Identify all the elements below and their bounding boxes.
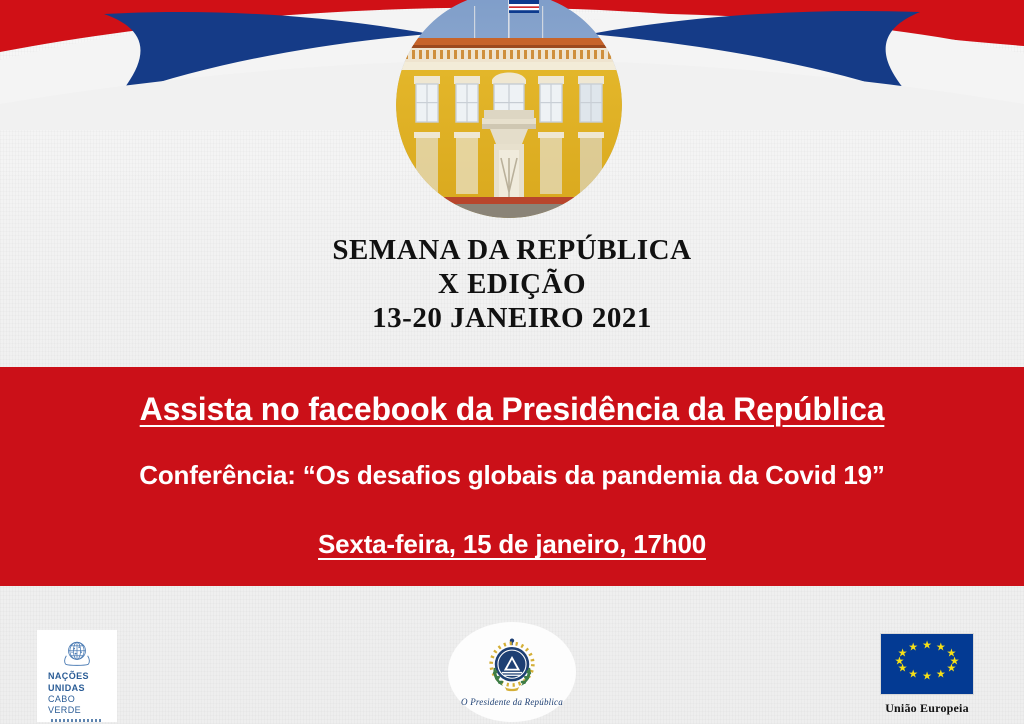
headline-line-3: 13-20 JANEIRO 2021 xyxy=(0,302,1024,336)
headline-block: SEMANA DA REPÚBLICA X EDIÇÃO 13-20 JANEI… xyxy=(0,234,1024,336)
un-emblem-icon xyxy=(57,638,97,666)
united-nations-cabo-verde-logo: NAÇÕES UNIDAS CABO VERDE xyxy=(37,630,117,722)
banner-call-to-action: Assista no facebook da Presidência da Re… xyxy=(0,391,1024,428)
un-logo-line-3: CABO VERDE xyxy=(48,694,106,717)
un-logo-line-2: UNIDAS xyxy=(48,683,106,694)
cabo-verde-flag xyxy=(509,0,539,13)
main-doorway xyxy=(494,144,524,202)
seal-emblem-icon xyxy=(483,637,541,695)
presidential-palace-photo xyxy=(396,0,622,218)
red-banner: Assista no facebook da Presidência da Re… xyxy=(0,367,1024,586)
eu-flag-icon: ★ ★ ★ ★ ★ ★ ★ ★ ★ ★ ★ ★ xyxy=(880,633,974,695)
headline-line-1: SEMANA DA REPÚBLICA xyxy=(0,234,1024,268)
partner-logos-row: NAÇÕES UNIDAS CABO VERDE xyxy=(0,600,1024,724)
seal-caption: O Presidente da República xyxy=(461,697,563,707)
headline-line-2: X EDIÇÃO xyxy=(0,268,1024,302)
un-logo-line-1: NAÇÕES xyxy=(48,671,106,682)
un-logo-text: NAÇÕES UNIDAS CABO VERDE xyxy=(48,671,106,716)
poster-root: SEMANA DA REPÚBLICA X EDIÇÃO 13-20 JANEI… xyxy=(0,0,1024,724)
banner-conference-title: Conferência: “Os desafios globais da pan… xyxy=(0,460,1024,491)
european-union-logo: ★ ★ ★ ★ ★ ★ ★ ★ ★ ★ ★ ★ União Europeia xyxy=(862,633,992,717)
banner-datetime: Sexta-feira, 15 de janeiro, 17h00 xyxy=(0,529,1024,560)
un-logo-dotted-rule xyxy=(51,719,103,722)
eu-logo-label: União Europeia xyxy=(885,701,969,716)
presidencia-da-republica-seal: O Presidente da República xyxy=(448,622,576,722)
